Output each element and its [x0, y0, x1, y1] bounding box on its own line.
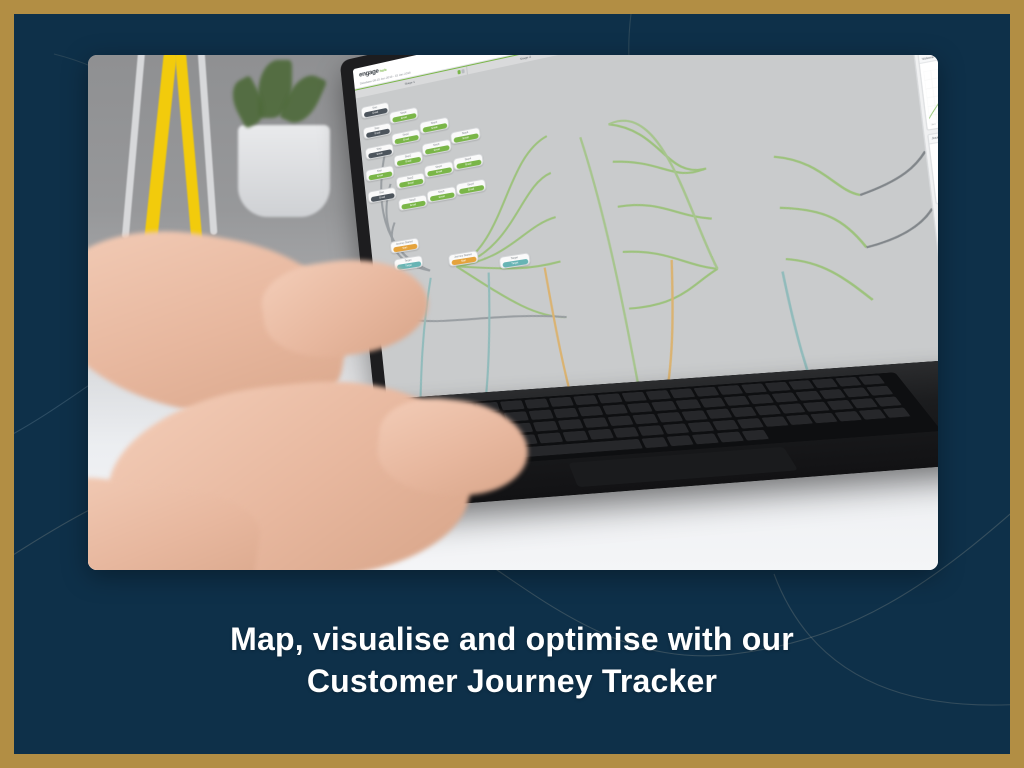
caption-line-2: Customer Journey Tracker: [14, 660, 1010, 702]
slide-caption: Map, visualise and optimise with our Cus…: [14, 618, 1010, 702]
logo-suffix: hub: [379, 67, 386, 73]
caption-line-1: Map, visualise and optimise with our: [230, 621, 794, 657]
hero-photo: engage hub Database 08-15 Jan 2019 - 15 …: [88, 55, 938, 570]
slide: engage hub Database 08-15 Jan 2019 - 15 …: [0, 0, 1024, 768]
pie-chart-area: WhatsApp 24% Face-to-Face 21%: [933, 137, 938, 200]
stage-tools[interactable]: [457, 69, 464, 74]
volume-line-chart: [923, 55, 938, 125]
journey-actions-pie: [933, 142, 938, 200]
volume-body: Options ▾ Jan: [920, 55, 938, 130]
slide-background: engage hub Database 08-15 Jan 2019 - 15 …: [14, 14, 1010, 754]
photo-plant-pot: [238, 125, 330, 217]
